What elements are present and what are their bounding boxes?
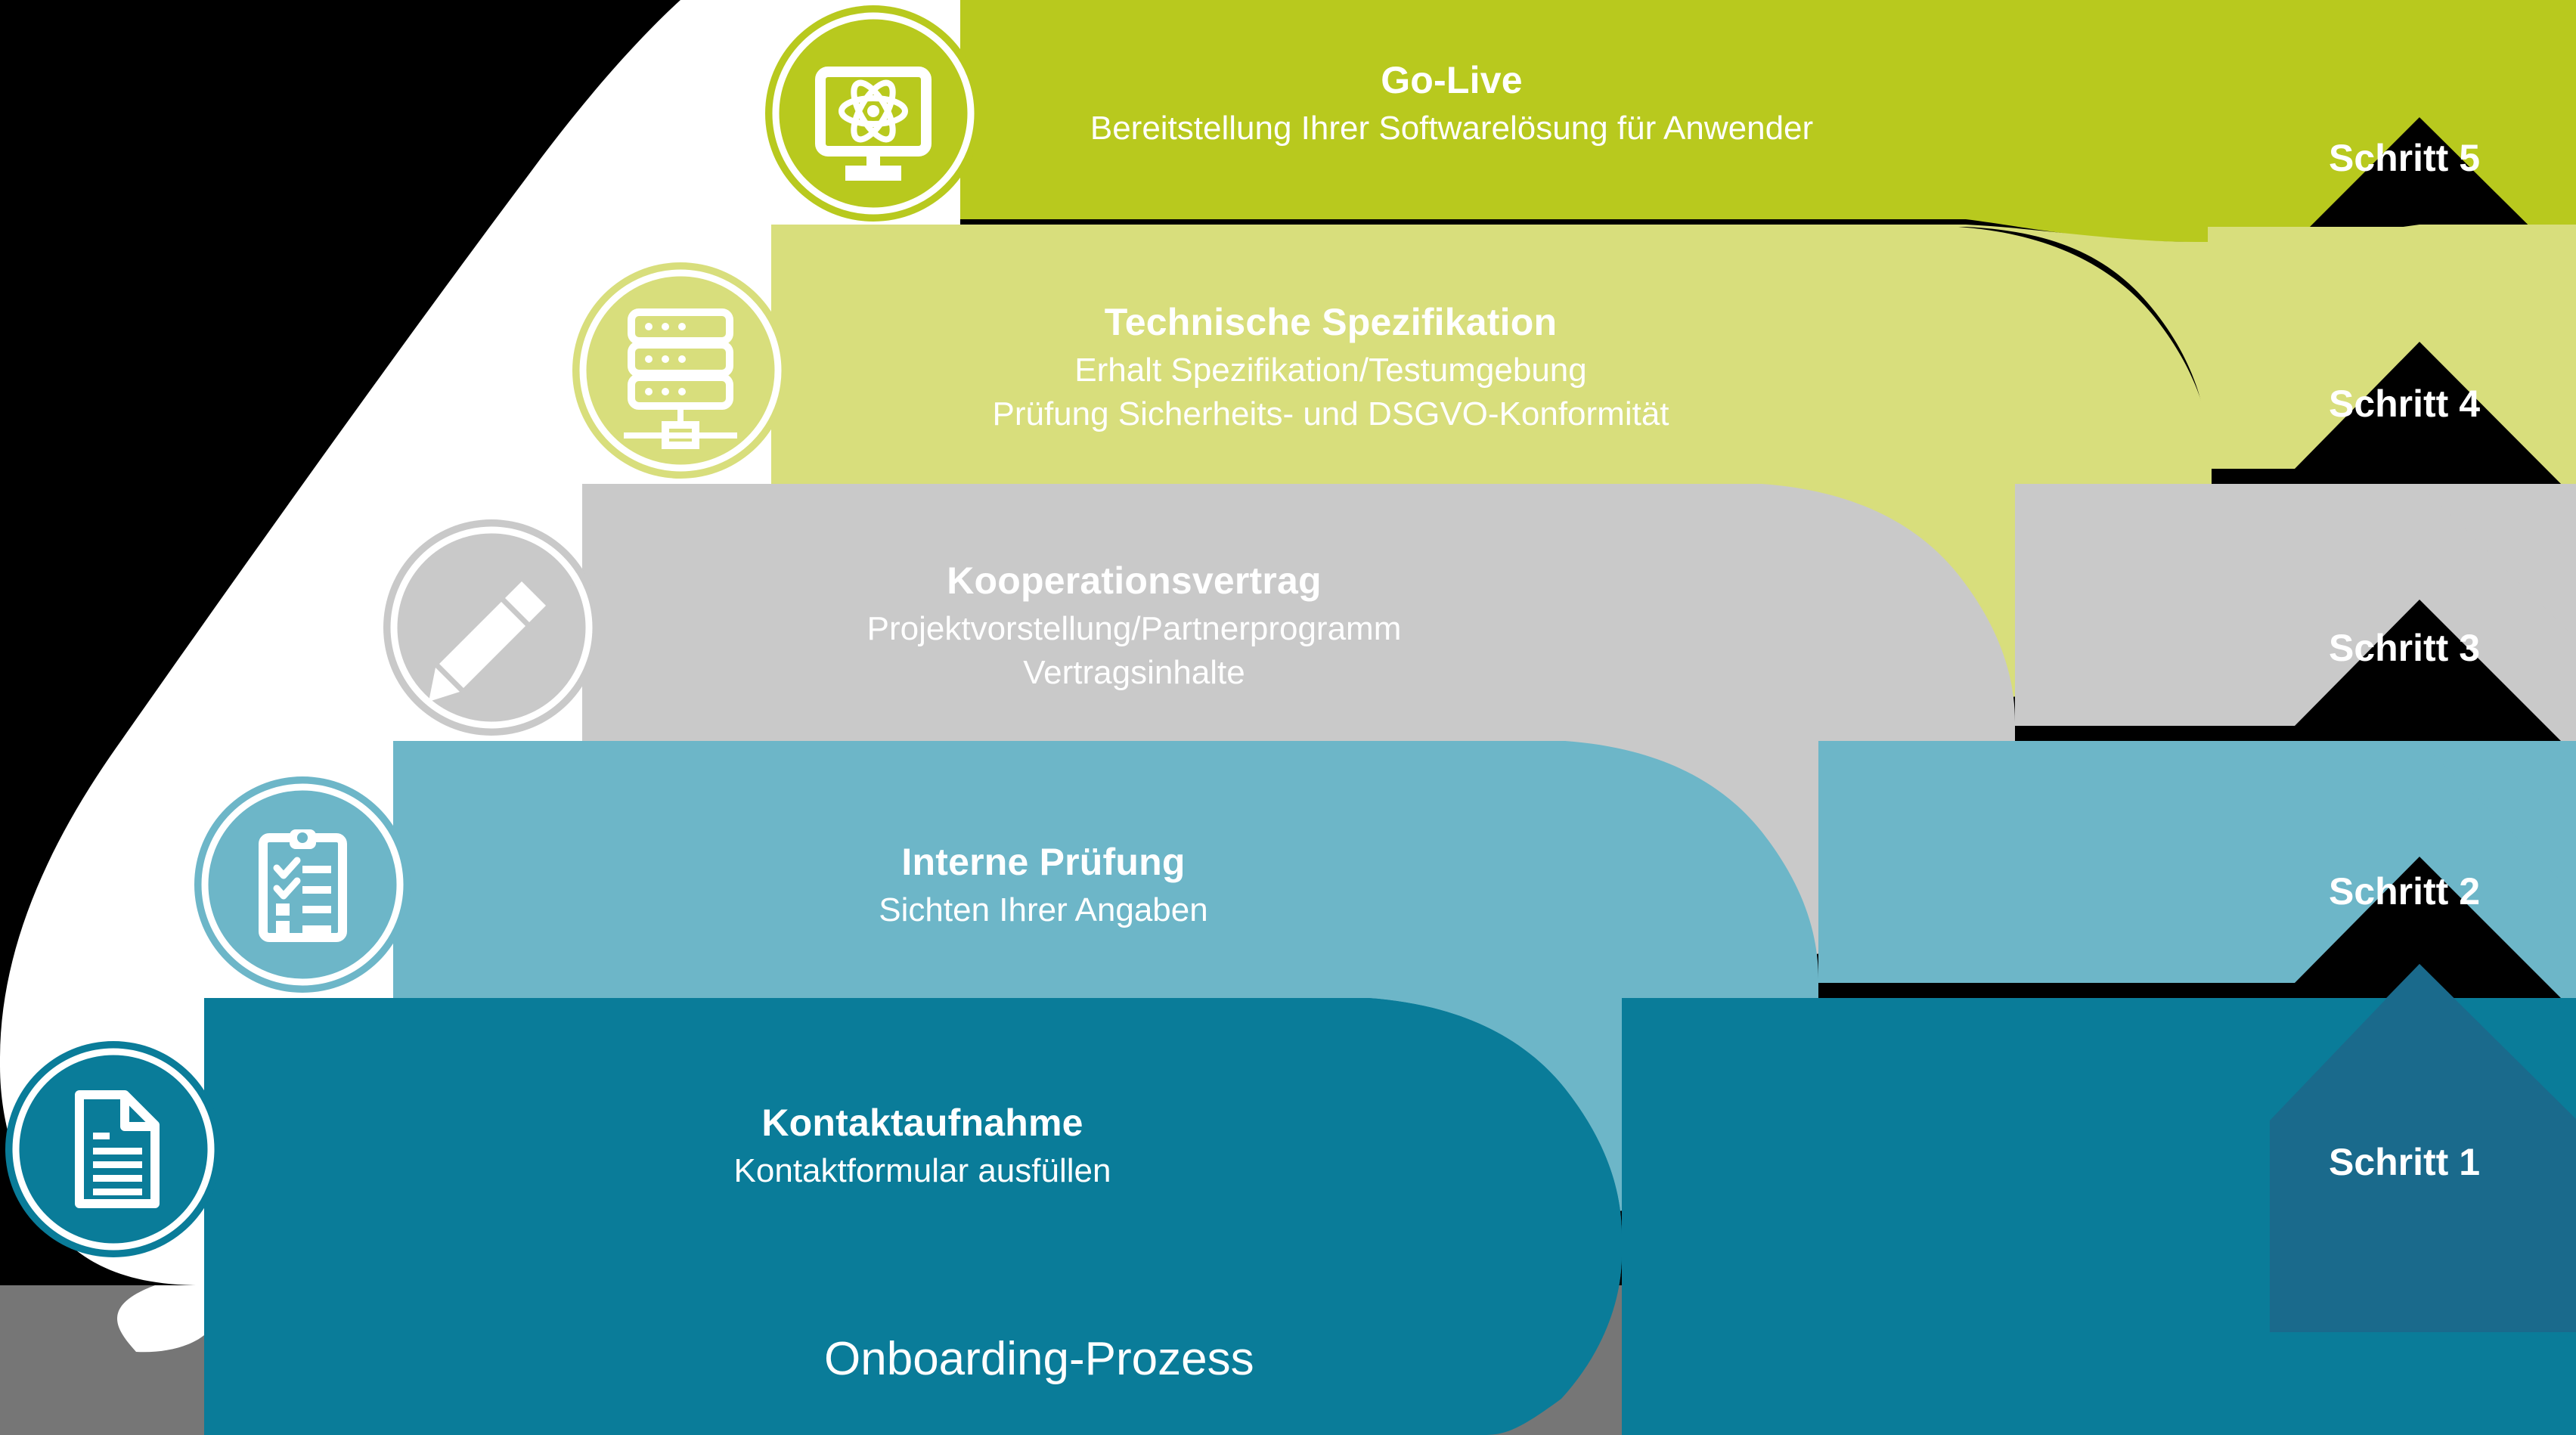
icon-circle-step-3 <box>383 519 600 736</box>
icon-circle-step-4 <box>572 262 789 479</box>
step-3-number-label: Schritt 3 <box>2283 626 2525 670</box>
icon-circle-step-1 <box>5 1041 222 1257</box>
icon-circle-step-2 <box>194 776 411 993</box>
step-1-number-label: Schritt 1 <box>2283 1140 2525 1184</box>
icon-circle-step-5 <box>765 5 981 222</box>
diagram-icons <box>0 0 2576 1435</box>
process-title: Onboarding-Prozess <box>824 1332 1254 1386</box>
step-4-number-label: Schritt 4 <box>2283 382 2525 426</box>
onboarding-process-diagram: Go-Live Bereitstellung Ihrer Softwarelös… <box>0 0 2576 1435</box>
step-2-number-label: Schritt 2 <box>2283 869 2525 913</box>
step-5-number-label: Schritt 5 <box>2283 136 2525 180</box>
